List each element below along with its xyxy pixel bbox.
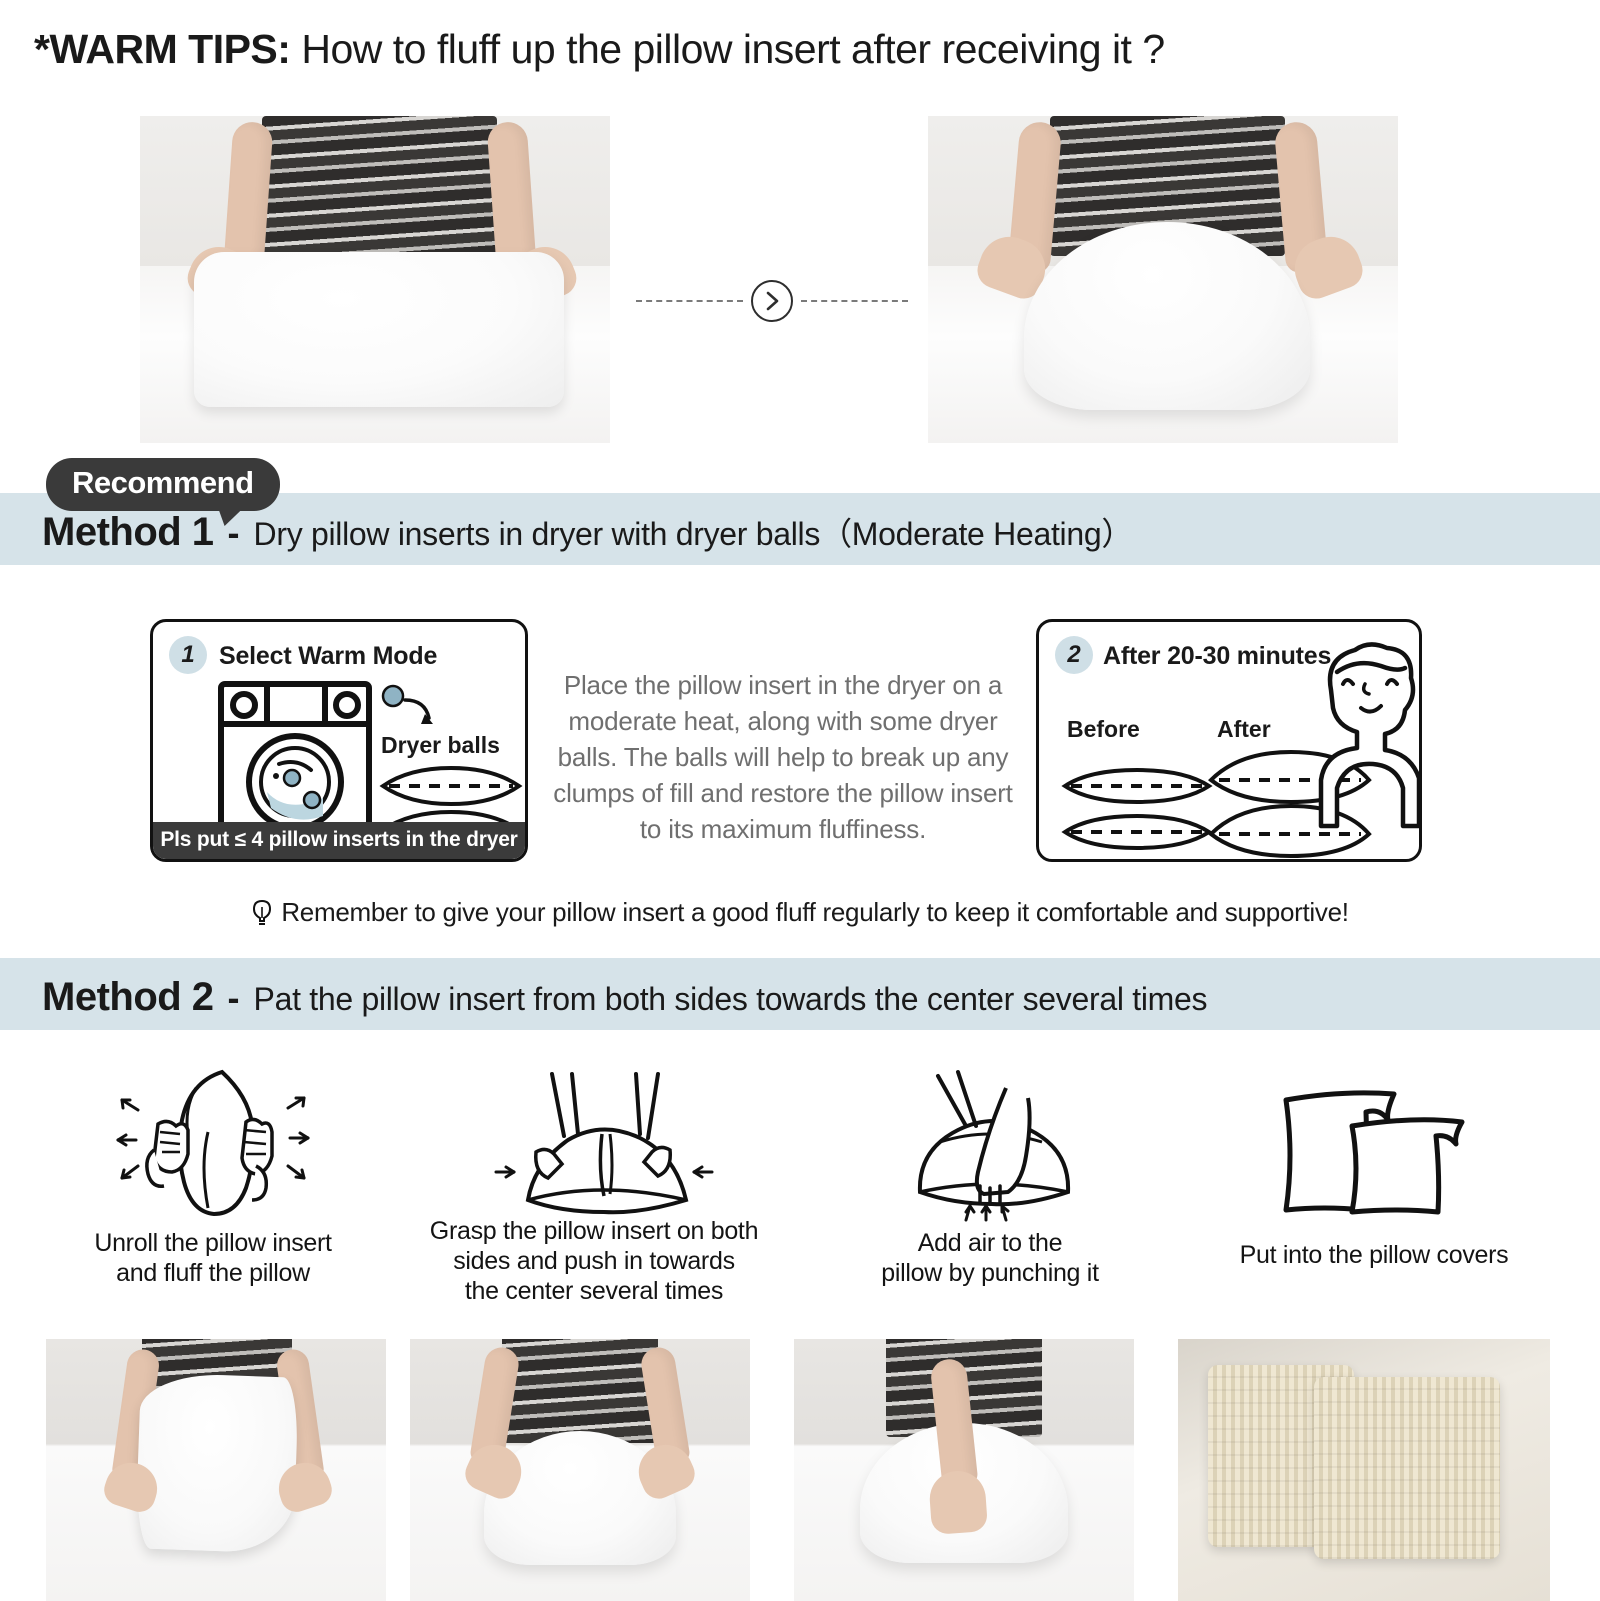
step-caption-2: Grasp the pillow insert on both sides an… [408, 1216, 780, 1306]
dryer-balls-label: Dryer balls [381, 732, 500, 759]
method-2-title: Method 2 [42, 975, 214, 1020]
method-2-header: Method 2 - Pat the pillow insert from bo… [0, 958, 1600, 1030]
striped-shirt [262, 116, 497, 266]
striped-shirt [502, 1339, 658, 1443]
step-caption-3: Add air to the pillow by punching it [820, 1228, 1160, 1288]
page-title: *WARM TIPS: How to fluff up the pillow i… [34, 26, 1165, 73]
progress-arrow [636, 278, 908, 324]
step-caption-1: Unroll the pillow insert and fluff the p… [48, 1228, 378, 1288]
recommend-badge: Recommend [46, 458, 280, 511]
before-pillows-icon [1057, 762, 1217, 858]
after-drying-card: 2 After 20-30 minutes Before After [1036, 619, 1422, 862]
step-number-2: 2 [1055, 636, 1093, 674]
step-photo-2 [410, 1339, 750, 1601]
dryer-step-card: 1 Select Warm Mode Dryer balls [150, 619, 528, 862]
step-icon-4 [1252, 1078, 1488, 1223]
dash-left [636, 300, 743, 302]
chevron-right-circle-icon [751, 280, 793, 322]
person-icon [1307, 638, 1422, 838]
after-label: After [1217, 716, 1271, 743]
push-pillow-sides-icon [490, 1068, 720, 1218]
step-photo-1 [46, 1339, 386, 1601]
before-photo [140, 116, 610, 443]
fluff-reminder-tip: Remember to give your pillow insert a go… [0, 897, 1600, 928]
method-1-description: Place the pillow insert in the dryer on … [552, 668, 1014, 847]
corduroy-pillow-front [1314, 1377, 1500, 1559]
before-label: Before [1067, 716, 1140, 743]
method-1-title: Method 1 [42, 510, 214, 555]
step-icon-2 [490, 1068, 720, 1223]
step-icon-1 [96, 1062, 326, 1222]
step-photo-4 [1178, 1339, 1550, 1601]
after-photo [928, 116, 1398, 443]
dryer-capacity-note: Pls put ≤ 4 pillow inserts in the dryer [153, 822, 525, 859]
flat-pillow-insert [194, 252, 564, 407]
dryer-machine-icon [215, 680, 375, 840]
method-2-dash: - [228, 977, 240, 1019]
step-photo-3 [794, 1339, 1134, 1601]
dryer-step-title: Select Warm Mode [219, 642, 437, 671]
step-number-1: 1 [169, 636, 207, 674]
hands-holding-pillow-icon [96, 1062, 326, 1217]
step-caption-4: Put into the pillow covers [1190, 1240, 1558, 1270]
lightbulb-icon [251, 899, 273, 927]
held-pillow-insert [135, 1372, 299, 1553]
method-2-subtitle: Pat the pillow insert from both sides to… [254, 981, 1208, 1018]
two-pillows-icon [1252, 1078, 1488, 1218]
dash-right [801, 300, 908, 302]
infographic-page: *WARM TIPS: How to fluff up the pillow i… [0, 0, 1600, 1601]
dryer-ball-arrow-icon [381, 684, 451, 734]
fluff-reminder-text: Remember to give your pillow insert a go… [281, 897, 1348, 928]
after-drying-title: After 20-30 minutes [1103, 642, 1331, 671]
step-icon-3 [880, 1064, 1110, 1229]
page-title-rest: How to fluff up the pillow insert after … [301, 26, 1164, 72]
page-title-bold: *WARM TIPS: [34, 26, 290, 72]
punch-pillow-icon [880, 1064, 1110, 1224]
method-1-subtitle: Dry pillow inserts in dryer with dryer b… [254, 509, 1134, 555]
